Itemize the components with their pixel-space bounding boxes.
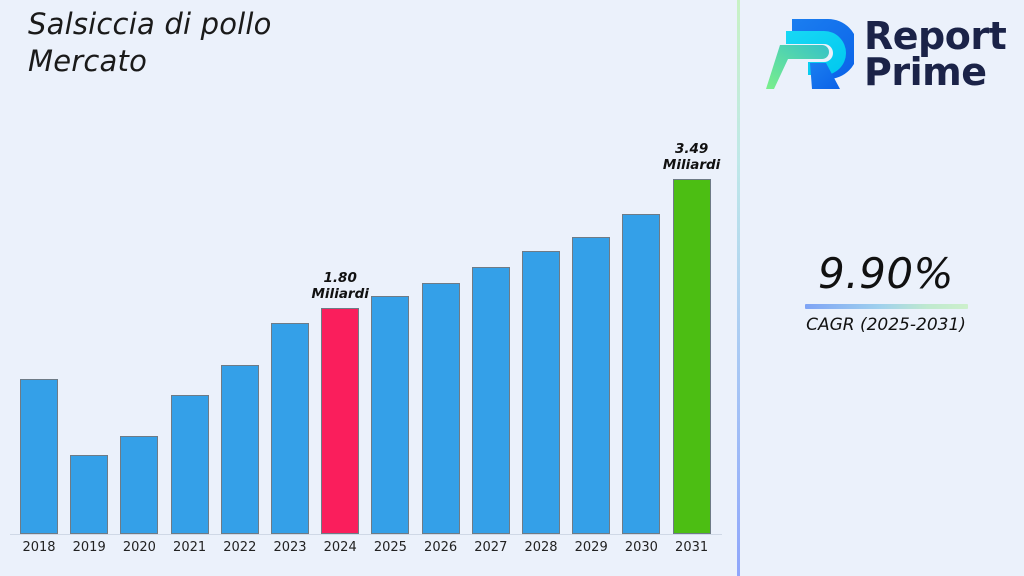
- bar-2023[interactable]: [271, 323, 309, 534]
- bar-group: 3.49 Miliardi: [673, 179, 711, 534]
- bar-2024[interactable]: [321, 308, 359, 534]
- bar-group: [70, 455, 108, 534]
- report-prime-r-logo-icon: [766, 15, 854, 93]
- bar-group: [422, 283, 460, 534]
- bar-group: [20, 379, 58, 534]
- panel-divider: [737, 0, 740, 576]
- x-tick-2029: 2029: [572, 540, 610, 555]
- x-tick-2025: 2025: [371, 540, 409, 555]
- brand-logo: Report Prime: [766, 8, 1012, 100]
- x-tick-2030: 2030: [622, 540, 660, 555]
- x-tick-2018: 2018: [20, 540, 58, 555]
- bar-2027[interactable]: [472, 267, 510, 534]
- bar-group: [120, 436, 158, 534]
- x-axis-line: [10, 534, 722, 535]
- bar-2018[interactable]: [20, 379, 58, 534]
- x-tick-2023: 2023: [271, 540, 309, 555]
- chart-infographic: Salsiccia di pollo Mercato 1.80 Miliardi…: [0, 0, 1024, 576]
- brand-name-line2: Prime: [864, 54, 1006, 90]
- x-tick-2028: 2028: [522, 540, 560, 555]
- bar-2028[interactable]: [522, 251, 560, 534]
- bar-2022[interactable]: [221, 365, 259, 534]
- bar-group: [371, 296, 409, 534]
- cagr-divider-rule: [805, 304, 968, 309]
- bar-group: [472, 267, 510, 534]
- cagr-caption: CAGR (2025-2031): [748, 315, 1024, 335]
- bar-2026[interactable]: [422, 283, 460, 534]
- bar-chart-plot: 1.80 Miliardi3.49 Miliardi 2018201920202…: [0, 0, 737, 576]
- x-tick-2031: 2031: [673, 540, 711, 555]
- bar-group: [221, 365, 259, 534]
- x-tick-2026: 2026: [422, 540, 460, 555]
- x-tick-2020: 2020: [120, 540, 158, 555]
- x-tick-2019: 2019: [70, 540, 108, 555]
- bar-value-label-2024: 1.80 Miliardi: [312, 270, 369, 302]
- x-tick-2024: 2024: [321, 540, 359, 555]
- bar-2025[interactable]: [371, 296, 409, 534]
- bar-group: [171, 395, 209, 534]
- x-tick-2021: 2021: [171, 540, 209, 555]
- cagr-block: 9.90% CAGR (2025-2031): [748, 252, 1024, 335]
- x-tick-2027: 2027: [472, 540, 510, 555]
- bar-2031[interactable]: [673, 179, 711, 534]
- bar-value-label-2031: 3.49 Miliardi: [663, 141, 720, 173]
- brand-name-line1: Report: [864, 18, 1006, 54]
- bar-2019[interactable]: [70, 455, 108, 534]
- bar-2021[interactable]: [171, 395, 209, 534]
- bar-group: [622, 214, 660, 534]
- x-tick-2022: 2022: [221, 540, 259, 555]
- bar-group: [572, 237, 610, 534]
- brand-name: Report Prime: [864, 18, 1006, 90]
- bar-group: [271, 323, 309, 534]
- bar-group: 1.80 Miliardi: [321, 308, 359, 534]
- bar-2030[interactable]: [622, 214, 660, 534]
- bar-2029[interactable]: [572, 237, 610, 534]
- cagr-value: 9.90%: [748, 252, 1024, 296]
- bar-2020[interactable]: [120, 436, 158, 534]
- bar-group: [522, 251, 560, 534]
